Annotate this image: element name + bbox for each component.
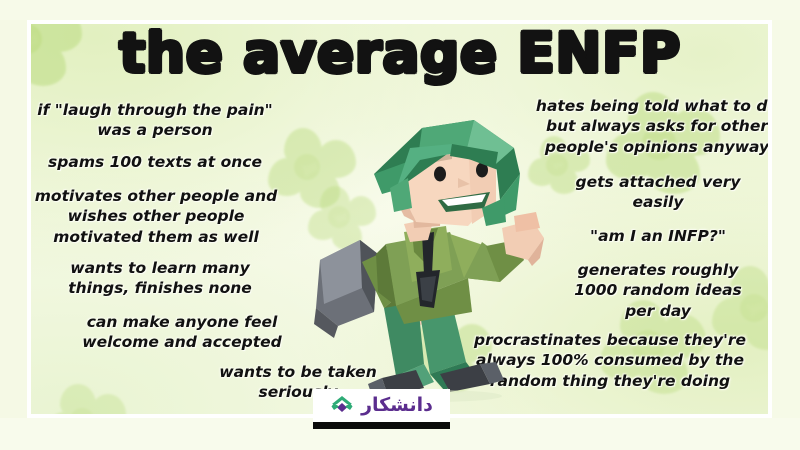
- mat-left: [0, 0, 27, 450]
- mat-right: [772, 0, 800, 450]
- mat-top: [0, 0, 800, 20]
- low-poly-student-illustration: [300, 112, 545, 402]
- trait-welcome-accepted: can make anyone feel welcome and accepte…: [56, 312, 308, 353]
- trait-gets-attached: gets attached very easily: [540, 172, 768, 213]
- trait-hates-being-told: hates being told what to do but always a…: [512, 96, 768, 157]
- trait-spams-texts: spams 100 texts at once: [31, 152, 290, 172]
- daneshkar-diamond-icon: [330, 394, 354, 418]
- daneshkar-logo[interactable]: دانشکار: [313, 389, 450, 422]
- meme-image: the average ENFP if "laugh through the p…: [0, 0, 800, 450]
- framed-content: the average ENFP if "laugh through the p…: [31, 24, 768, 414]
- trait-motivates-others: motivates other people and wishes other …: [31, 186, 298, 247]
- trait-laugh-through-pain: if "laugh through the pain" was a person: [31, 100, 290, 141]
- trait-random-ideas: generates roughly 1000 random ideas per …: [540, 260, 768, 321]
- mat-bottom: [0, 418, 800, 450]
- trait-am-i-an-infp: "am I an INFP?": [540, 226, 768, 246]
- page-title: the average ENFP: [31, 26, 768, 81]
- trait-learn-many-things: wants to learn many things, finishes non…: [34, 258, 286, 299]
- daneshkar-logo-text: دانشکار: [361, 396, 433, 415]
